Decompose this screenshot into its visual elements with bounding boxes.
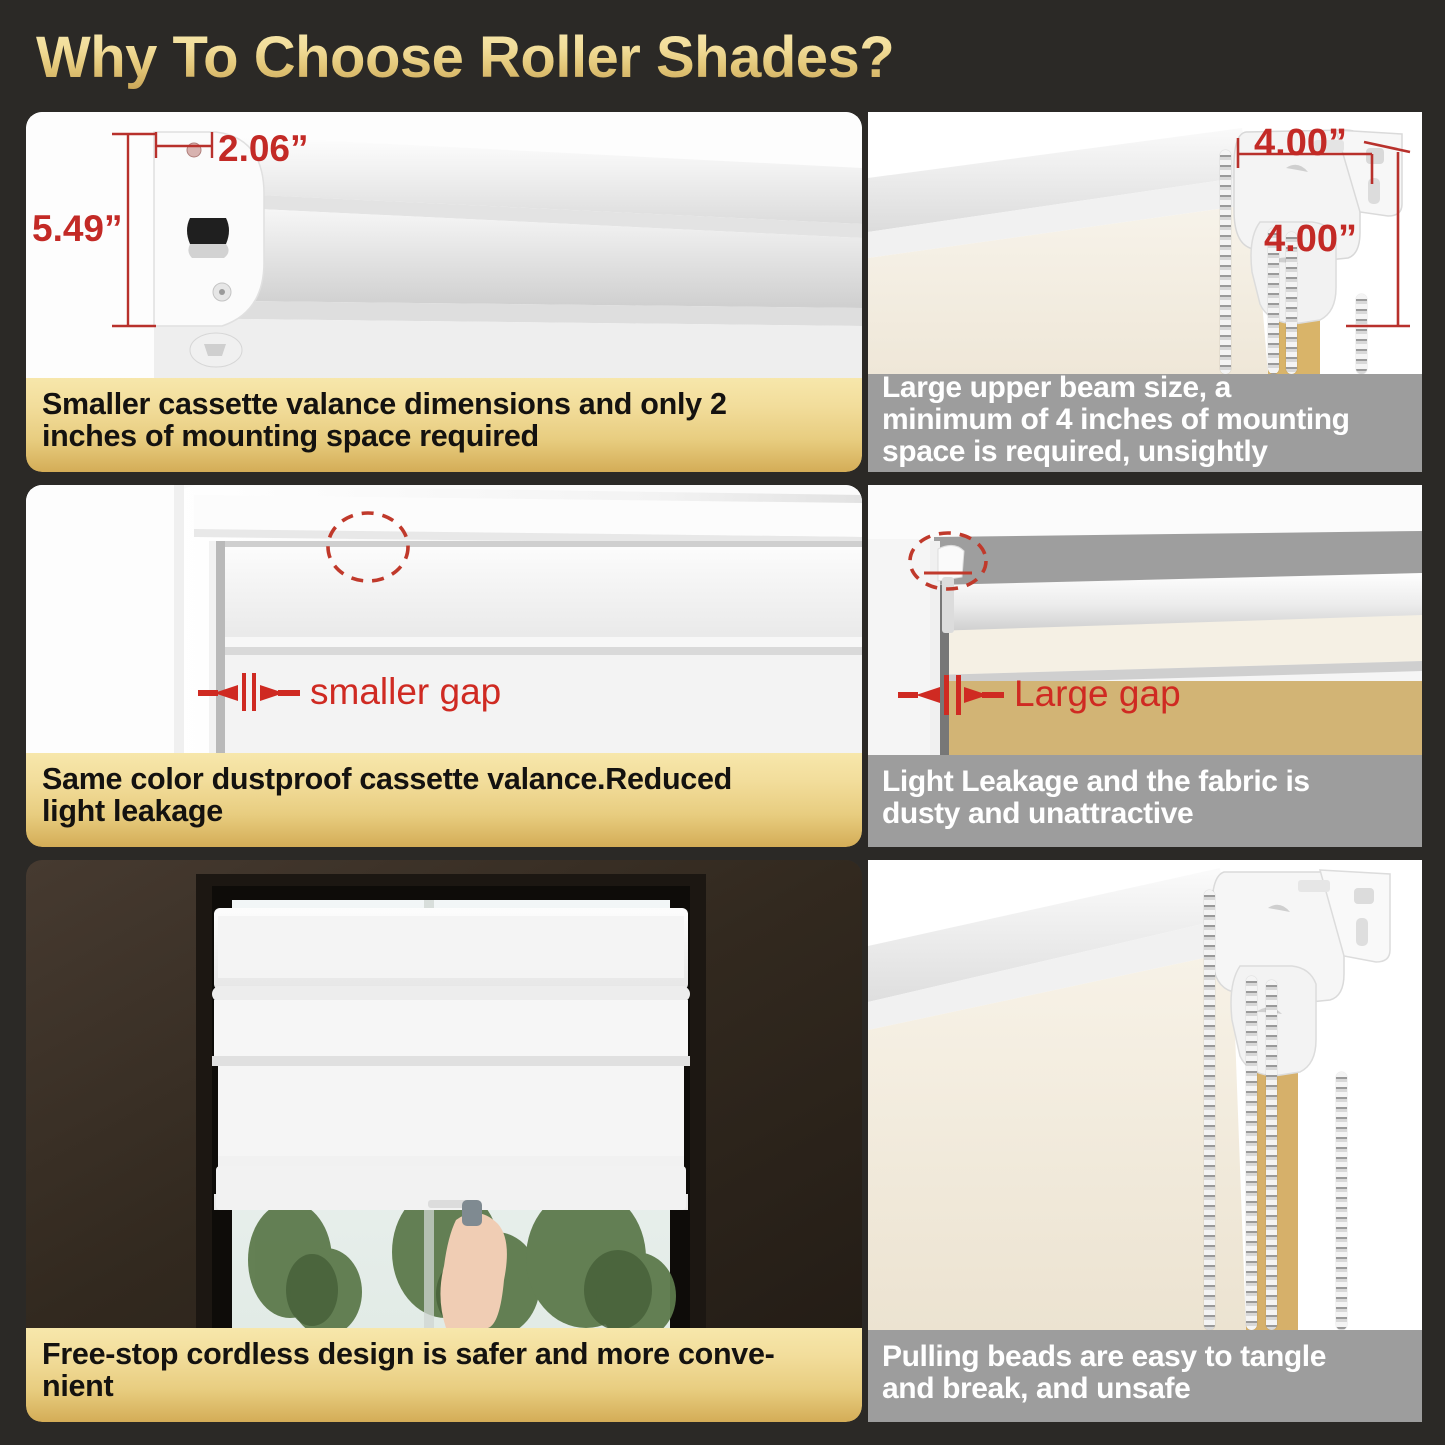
panel-bottom-right-image xyxy=(868,860,1422,1330)
caption-bottom-right-text: Pulling beads are easy to tangle and bre… xyxy=(882,1341,1408,1405)
dimension-height-top-left: 5.49” xyxy=(32,208,123,250)
caption-middle-right-text: Light Leakage and the fabric is dusty an… xyxy=(882,766,1408,830)
caption-middle-left: Same color dustproof cassette valance.Re… xyxy=(26,753,862,847)
panel-top-left-image: 2.06” 5.49” xyxy=(26,112,862,378)
caption-middle-right: Light Leakage and the fabric is dusty an… xyxy=(868,755,1422,847)
panel-bottom-left-image xyxy=(26,860,862,1328)
caption-middle-left-text: Same color dustproof cassette valance.Re… xyxy=(42,763,846,828)
caption-top-right: Large upper beam size, a minimum of 4 in… xyxy=(868,374,1422,472)
dimension-height-top-right: 4.00” xyxy=(1264,218,1357,261)
dimension-width-top-left: 2.06” xyxy=(218,128,309,170)
panel-middle-right-image: Large gap xyxy=(868,485,1422,755)
panel-middle-right: Large gap Light Leakage and the fabric i… xyxy=(868,485,1422,847)
caption-top-left: Smaller cassette valance dimensions and … xyxy=(26,378,862,472)
panel-bottom-right: Pulling beads are easy to tangle and bre… xyxy=(868,860,1422,1422)
comparison-grid: 2.06” 5.49” Smaller cassette valance dim… xyxy=(0,0,1445,1445)
annotation-large-gap: Large gap xyxy=(1014,673,1181,715)
panel-middle-left: smaller gap Same color dustproof cassett… xyxy=(26,485,862,847)
caption-bottom-left: Free-stop cordless design is safer and m… xyxy=(26,1328,862,1422)
panel-middle-left-image: smaller gap xyxy=(26,485,862,753)
caption-bottom-left-text: Free-stop cordless design is safer and m… xyxy=(42,1338,846,1403)
dimension-width-top-right: 4.00” xyxy=(1254,122,1347,165)
annotation-smaller-gap: smaller gap xyxy=(310,671,501,713)
panel-bottom-left: Free-stop cordless design is safer and m… xyxy=(26,860,862,1422)
caption-top-right-text: Large upper beam size, a minimum of 4 in… xyxy=(882,372,1408,467)
caption-bottom-right: Pulling beads are easy to tangle and bre… xyxy=(868,1330,1422,1422)
panel-top-right-image: 4.00” 4.00” xyxy=(868,112,1422,374)
caption-top-left-text: Smaller cassette valance dimensions and … xyxy=(42,388,846,453)
panel-top-left: 2.06” 5.49” Smaller cassette valance dim… xyxy=(26,112,862,472)
panel-top-right: 4.00” 4.00” Large upper beam size, a min… xyxy=(868,112,1422,472)
